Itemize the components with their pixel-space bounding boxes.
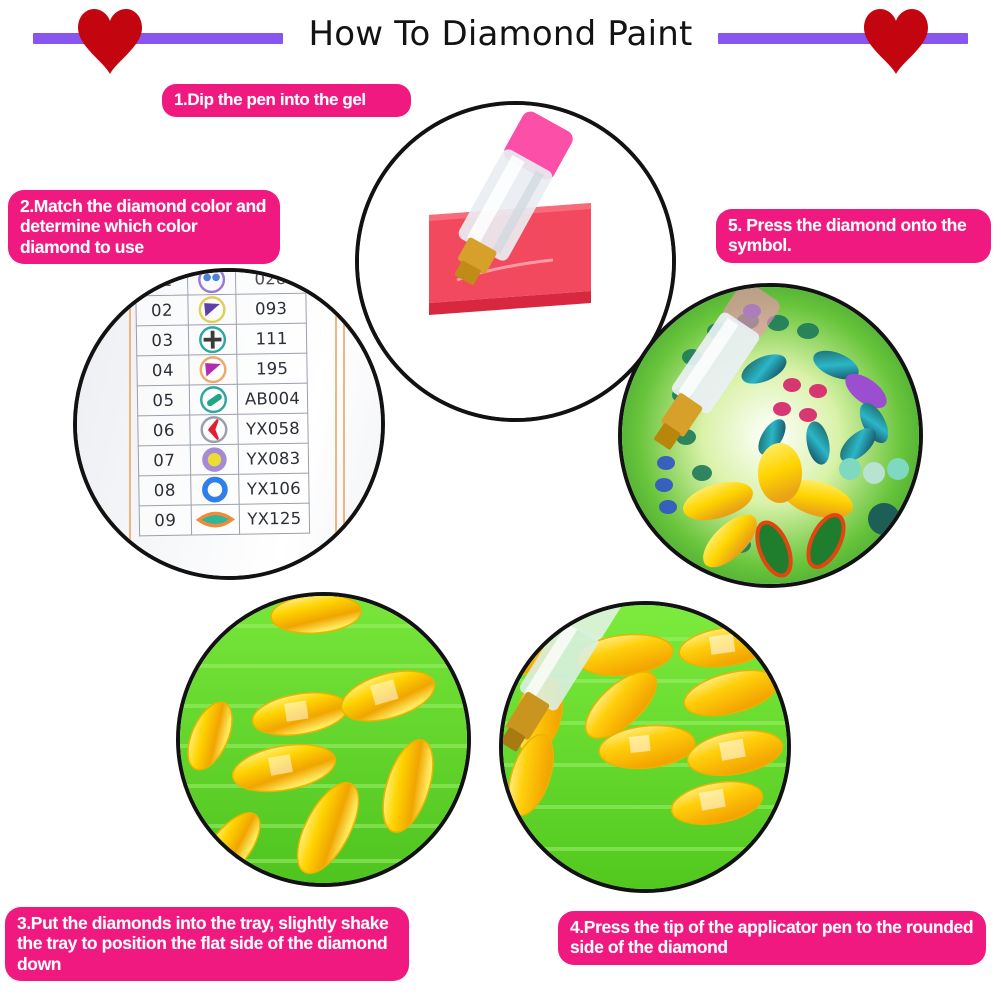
- pen-dipping-into-gel-illustration: [359, 105, 672, 418]
- legend-row-number: 02: [136, 295, 188, 326]
- diamond-being-placed: [758, 443, 802, 503]
- color-legend-table: 0102802093031110419505AB00406YX05807YX08…: [135, 268, 310, 536]
- legend-row-number: 07: [138, 445, 190, 476]
- chart-margin-line: [129, 268, 131, 580]
- legend-row-symbol-open-ring: [191, 474, 239, 505]
- diamond-pressed-onto-canvas-illustration: [622, 287, 919, 584]
- legend-row: 09YX125: [139, 503, 309, 536]
- legend-row: 03111: [136, 323, 306, 356]
- page-title: How To Diamond Paint: [0, 14, 1001, 54]
- chart-margin-line: [335, 268, 337, 580]
- yellow-diamonds-in-tray-illustration: [180, 596, 467, 883]
- legend-row-symbol-plus-cross: [188, 324, 236, 355]
- step-1-photo: [355, 101, 676, 422]
- legend-row: 02093: [136, 293, 306, 326]
- legend-row-number: 08: [139, 475, 191, 506]
- legend-row-code: YX125: [239, 503, 309, 534]
- step-4-label: 4.Press the tip of the applicator pen to…: [558, 911, 986, 965]
- legend-row-symbol-double-dot-circle: [187, 268, 235, 295]
- legend-row: 07YX083: [138, 443, 308, 476]
- legend-row: 08YX106: [139, 473, 309, 506]
- legend-row-code: YX106: [239, 473, 309, 504]
- legend-row-code: YX083: [238, 443, 308, 474]
- legend-row-code: 093: [236, 293, 306, 324]
- legend-row-number: 01: [135, 268, 187, 296]
- legend-row-symbol-leaf-marquise: [191, 504, 239, 535]
- step-3-photo: [176, 592, 471, 887]
- legend-row-code: 195: [237, 353, 307, 384]
- legend-row-code: YX058: [238, 413, 308, 444]
- legend-row-symbol-triangle-corner: [188, 294, 236, 325]
- legend-row-symbol-filled-dot-ring: [190, 444, 238, 475]
- step-5-label: 5. Press the diamond onto the symbol.: [716, 209, 991, 263]
- legend-row-number: 05: [137, 385, 189, 416]
- step-2-photo: 0102802093031110419505AB00406YX05807YX08…: [73, 268, 385, 580]
- legend-row-code: 111: [236, 323, 306, 354]
- legend-row-symbol-left-chevron: [190, 414, 238, 445]
- legend-row-symbol-slash-bar-circle: [189, 384, 237, 415]
- color-legend-chart: 0102802093031110419505AB00406YX05807YX08…: [77, 272, 381, 576]
- legend-row: 06YX058: [138, 413, 308, 446]
- legend-row-number: 06: [138, 415, 190, 446]
- step-1-label: 1.Dip the pen into the gel: [162, 84, 411, 117]
- legend-row: 05AB004: [137, 383, 307, 416]
- legend-row-number: 09: [139, 505, 191, 536]
- legend-row-number: 03: [136, 325, 188, 356]
- legend-row-code: 028: [235, 268, 305, 294]
- legend-row-code: AB004: [237, 383, 307, 414]
- step-5-photo: [618, 283, 923, 588]
- page-header: How To Diamond Paint: [0, 0, 1001, 72]
- legend-row-symbol-triangle-corner: [189, 354, 237, 385]
- step-4-photo: [499, 601, 791, 893]
- legend-row-number: 04: [137, 355, 189, 386]
- chart-margin-line: [343, 268, 345, 580]
- legend-row: 01028: [135, 268, 305, 296]
- step-3-label: 3.Put the diamonds into the tray, slight…: [5, 907, 409, 981]
- legend-row: 04195: [137, 353, 307, 386]
- pen-picking-up-diamond-illustration: [503, 605, 787, 889]
- step-2-label: 2.Match the diamond color and determine …: [8, 190, 280, 264]
